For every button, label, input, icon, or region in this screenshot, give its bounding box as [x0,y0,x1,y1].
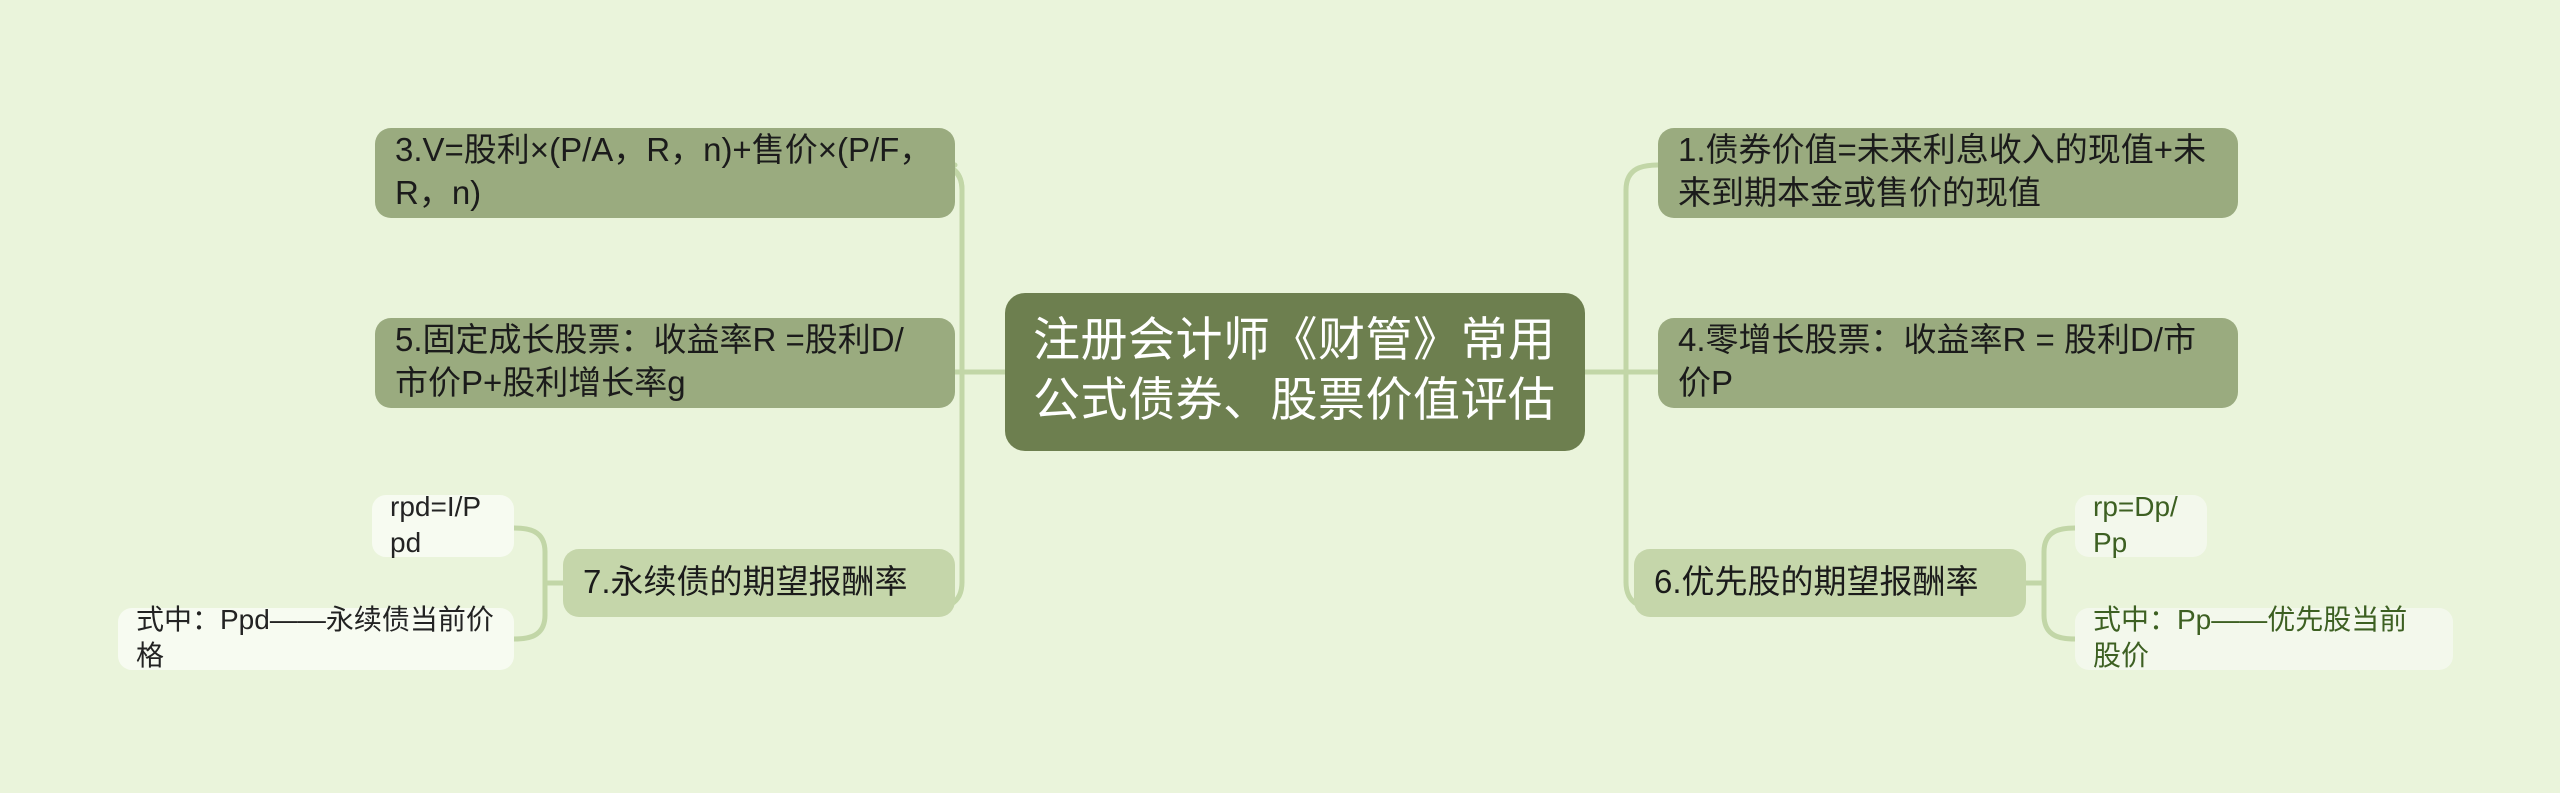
branch-node-1-label: 1.债券价值=未来利息收入的现值+未来到期本金或售价的现值 [1678,129,2218,215]
mindmap-canvas: 注册会计师《财管》常用公式债券、股票价值评估 3.V=股利×(P/A，R，n)+… [0,0,2560,793]
connector-7-leaf1 [514,528,545,552]
branch-node-7-label: 7.永续债的期望报酬率 [583,561,935,604]
root-node[interactable]: 注册会计师《财管》常用公式债券、股票价值评估 [1005,293,1585,451]
branch-node-1[interactable]: 1.债券价值=未来利息收入的现值+未来到期本金或售价的现值 [1658,128,2238,218]
branch-node-3-label: 3.V=股利×(P/A，R，n)+售价×(P/F，R，n) [395,129,935,215]
branch-node-4[interactable]: 4.零增长股票：收益率R = 股利D/市价P [1658,318,2238,408]
connector-7-leaf2 [514,615,545,639]
leaf-node-rpd-formula[interactable]: rpd=I/Ppd [372,495,514,557]
leaf-node-ppd-legend-label: 式中：Ppd——永续债当前价格 [136,602,496,675]
branch-node-6-label: 6.优先股的期望报酬率 [1654,561,2006,604]
connector-6-leaf2 [2044,615,2075,639]
leaf-node-rp-formula-label: rp=Dp/Pp [2093,489,2189,562]
branch-node-4-label: 4.零增长股票：收益率R = 股利D/市价P [1678,319,2218,405]
connector-right-1 [1626,165,1658,190]
leaf-node-rp-formula[interactable]: rp=Dp/Pp [2075,495,2207,557]
connector-6-leaf1 [2044,528,2075,552]
branch-node-3[interactable]: 3.V=股利×(P/A，R，n)+售价×(P/F，R，n) [375,128,955,218]
branch-node-5-label: 5.固定成长股票：收益率R =股利D/市价P+股利增长率g [395,319,935,405]
leaf-node-pp-legend[interactable]: 式中：Pp——优先股当前股价 [2075,608,2453,670]
root-node-label: 注册会计师《财管》常用公式债券、股票价值评估 [1033,310,1557,429]
branch-node-6[interactable]: 6.优先股的期望报酬率 [1634,549,2026,617]
branch-node-7[interactable]: 7.永续债的期望报酬率 [563,549,955,617]
leaf-node-ppd-legend[interactable]: 式中：Ppd——永续债当前价格 [118,608,514,670]
leaf-node-rpd-formula-label: rpd=I/Ppd [390,489,496,562]
leaf-node-pp-legend-label: 式中：Pp——优先股当前股价 [2093,602,2435,675]
branch-node-5[interactable]: 5.固定成长股票：收益率R =股利D/市价P+股利增长率g [375,318,955,408]
